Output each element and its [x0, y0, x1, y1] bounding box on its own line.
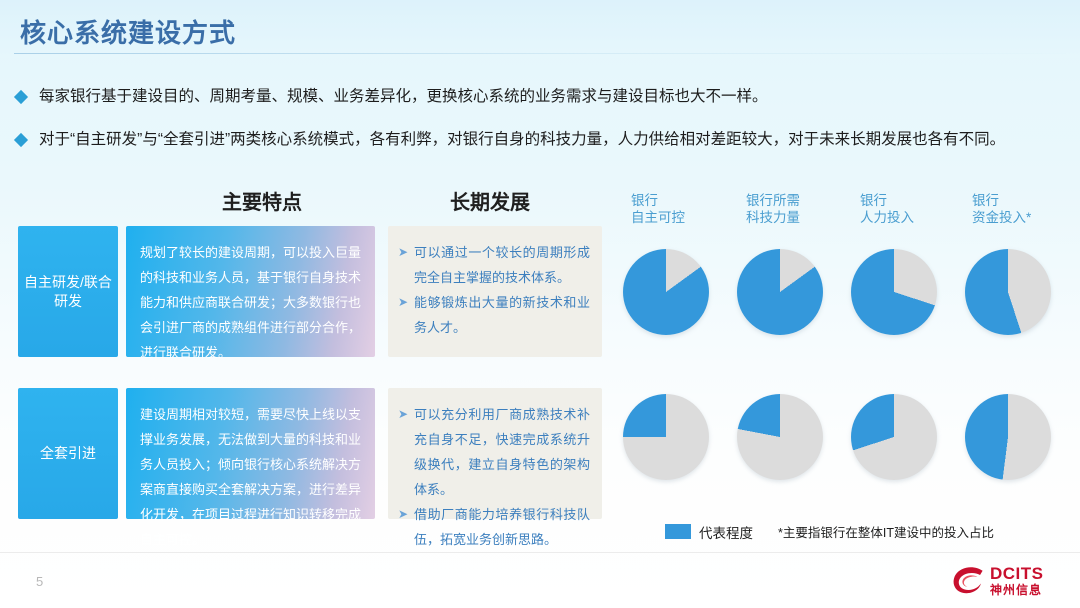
list-item: ➤ 可以充分利用厂商成熟技术补充自身不足，快速完成系统升级换代，建立自身特色的架… [398, 402, 590, 502]
list-item-text: 能够锻炼出大量的新技术和业务人才。 [414, 290, 590, 340]
diamond-bullet-icon [14, 133, 28, 147]
pie-column-header-3-line2: 资金投入* [972, 209, 1031, 226]
footer-divider [0, 552, 1080, 553]
pie-column-header-1: 银行所需 科技力量 [746, 192, 800, 226]
pie-column-header-0: 银行 自主可控 [631, 192, 685, 226]
bullet-item-2: 对于“自主研发”与“全套引进”两类核心系统模式，各有利弊，对银行自身的科技力量，… [16, 130, 1005, 150]
pie-column-header-3: 银行 资金投入* [972, 192, 1031, 226]
bullet-item-1: 每家银行基于建设目的、周期考量、规模、业务差异化，更换核心系统的业务需求与建设目… [16, 87, 768, 107]
pie-column-header-2-line1: 银行 [860, 192, 914, 209]
list-item: ➤ 可以通过一个较长的周期形成完全自主掌握的技术体系。 [398, 240, 590, 290]
pie-column-header-2-line2: 人力投入 [860, 209, 914, 226]
column-header-development: 长期发展 [450, 186, 530, 215]
diamond-bullet-icon [14, 90, 28, 104]
pie-column-header-3-line1: 银行 [972, 192, 1031, 209]
page-title: 核心系统建设方式 [20, 13, 236, 50]
slide-root: 核心系统建设方式 每家银行基于建设目的、周期考量、规模、业务差异化，更换核心系统… [0, 0, 1080, 608]
row-features-self-development: 规划了较长的建设周期，可以投入巨量的科技和业务人员，基于银行自身技术能力和供应商… [126, 226, 375, 357]
arrow-right-icon: ➤ [398, 502, 414, 527]
list-item-text: 可以充分利用厂商成熟技术补充自身不足，快速完成系统升级换代，建立自身特色的架构体… [414, 402, 590, 502]
pie-chart-0-2 [851, 249, 937, 335]
logo-text: DCITS 神州信息 [990, 565, 1044, 596]
row-features-full-procurement: 建设周期相对较短，需要尽快上线以支撑业务发展，无法做到大量的科技和业务人员投入；… [126, 388, 375, 519]
row-label-full-procurement: 全套引进 [18, 388, 118, 519]
arrow-right-icon: ➤ [398, 240, 414, 265]
chart-footnote: *主要指银行在整体IT建设中的投入占比 [778, 522, 994, 541]
pie-column-header-0-line2: 自主可控 [631, 209, 685, 226]
pie-chart-1-2 [851, 394, 937, 480]
list-item: ➤ 能够锻炼出大量的新技术和业务人才。 [398, 290, 590, 340]
pie-column-header-2: 银行 人力投入 [860, 192, 914, 226]
list-item-text: 借助厂商能力培养银行科技队伍，拓宽业务创新思路。 [414, 502, 590, 552]
title-divider [14, 53, 1066, 54]
row-label-self-development: 自主研发/联合研发 [18, 226, 118, 357]
pie-chart-1-0 [623, 394, 709, 480]
page-number: 5 [36, 574, 43, 589]
pie-chart-1-3 [965, 394, 1051, 480]
list-item: ➤ 借助厂商能力培养银行科技队伍，拓宽业务创新思路。 [398, 502, 590, 552]
list-item-text: 可以通过一个较长的周期形成完全自主掌握的技术体系。 [414, 240, 590, 290]
legend-color-swatch [665, 524, 691, 539]
pie-chart-0-1 [737, 249, 823, 335]
pie-chart-1-1 [737, 394, 823, 480]
pie-column-header-1-line1: 银行所需 [746, 192, 800, 209]
row-development-full-procurement: ➤ 可以充分利用厂商成熟技术补充自身不足，快速完成系统升级换代，建立自身特色的架… [388, 388, 602, 519]
pie-chart-0-3 [965, 249, 1051, 335]
logo-text-en: DCITS [990, 565, 1044, 582]
arrow-right-icon: ➤ [398, 290, 414, 315]
arrow-right-icon: ➤ [398, 402, 414, 427]
company-logo: DCITS 神州信息 [952, 565, 1044, 596]
logo-text-cn: 神州信息 [990, 584, 1044, 596]
legend-label: 代表程度 [699, 522, 753, 542]
bullet-text-2: 对于“自主研发”与“全套引进”两类核心系统模式，各有利弊，对银行自身的科技力量，… [39, 130, 1005, 150]
pie-column-header-1-line2: 科技力量 [746, 209, 800, 226]
column-header-features: 主要特点 [222, 186, 302, 215]
row-development-self-development: ➤ 可以通过一个较长的周期形成完全自主掌握的技术体系。 ➤ 能够锻炼出大量的新技… [388, 226, 602, 357]
bullet-text-1: 每家银行基于建设目的、周期考量、规模、业务差异化，更换核心系统的业务需求与建设目… [39, 87, 768, 107]
pie-column-header-0-line1: 银行 [631, 192, 685, 209]
pie-chart-0-0 [623, 249, 709, 335]
dcits-swirl-icon [952, 566, 986, 596]
